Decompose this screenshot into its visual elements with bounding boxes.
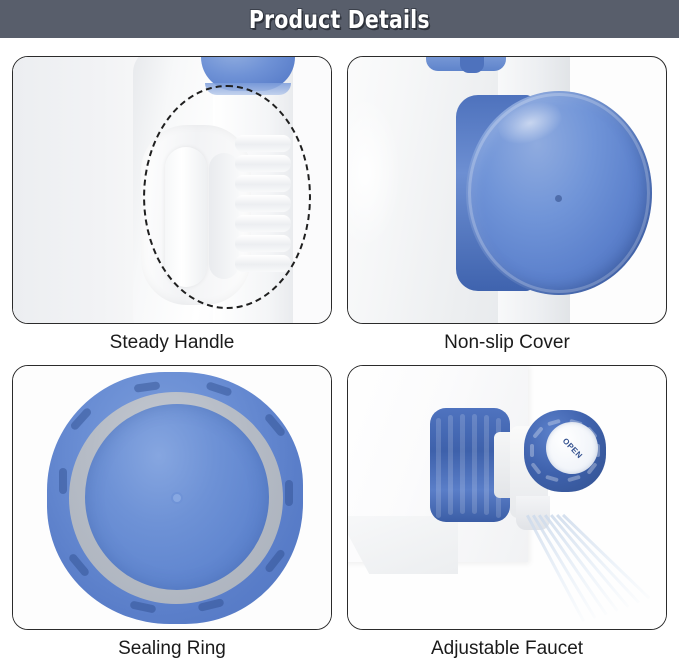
water-stream [526,516,667,630]
page-header: Product Details [0,0,679,38]
detail-cell-non-slip-cover: Non-slip Cover [347,56,667,324]
image-panel-sealing-ring [12,365,332,630]
carry-handle-tab [460,57,484,73]
image-panel-steady-handle [12,56,332,324]
detail-panel-grid: Steady Handle Non-slip Cover [0,38,679,666]
dashed-ellipse-annotation [143,85,311,309]
detail-cell-sealing-ring: Sealing Ring [12,365,332,630]
image-panel-adjustable-faucet: OPEN [347,365,667,630]
detail-cell-adjustable-faucet: OPEN Adjustable Faucet [347,365,667,630]
cap-center-nub [171,492,183,504]
tank-highlight [347,97,400,247]
detail-cell-steady-handle: Steady Handle [12,56,332,324]
panel-caption-steady-handle: Steady Handle [12,332,332,354]
image-panel-non-slip-cover [347,56,667,324]
product-details-page: Product Details [0,0,679,666]
cover-center-mark [555,195,562,202]
page-title: Product Details [249,5,430,34]
panel-caption-adjustable-faucet: Adjustable Faucet [347,638,667,660]
panel-caption-sealing-ring: Sealing Ring [12,638,332,660]
dial-label: OPEN [560,436,584,460]
panel-caption-non-slip-cover: Non-slip Cover [347,332,667,354]
